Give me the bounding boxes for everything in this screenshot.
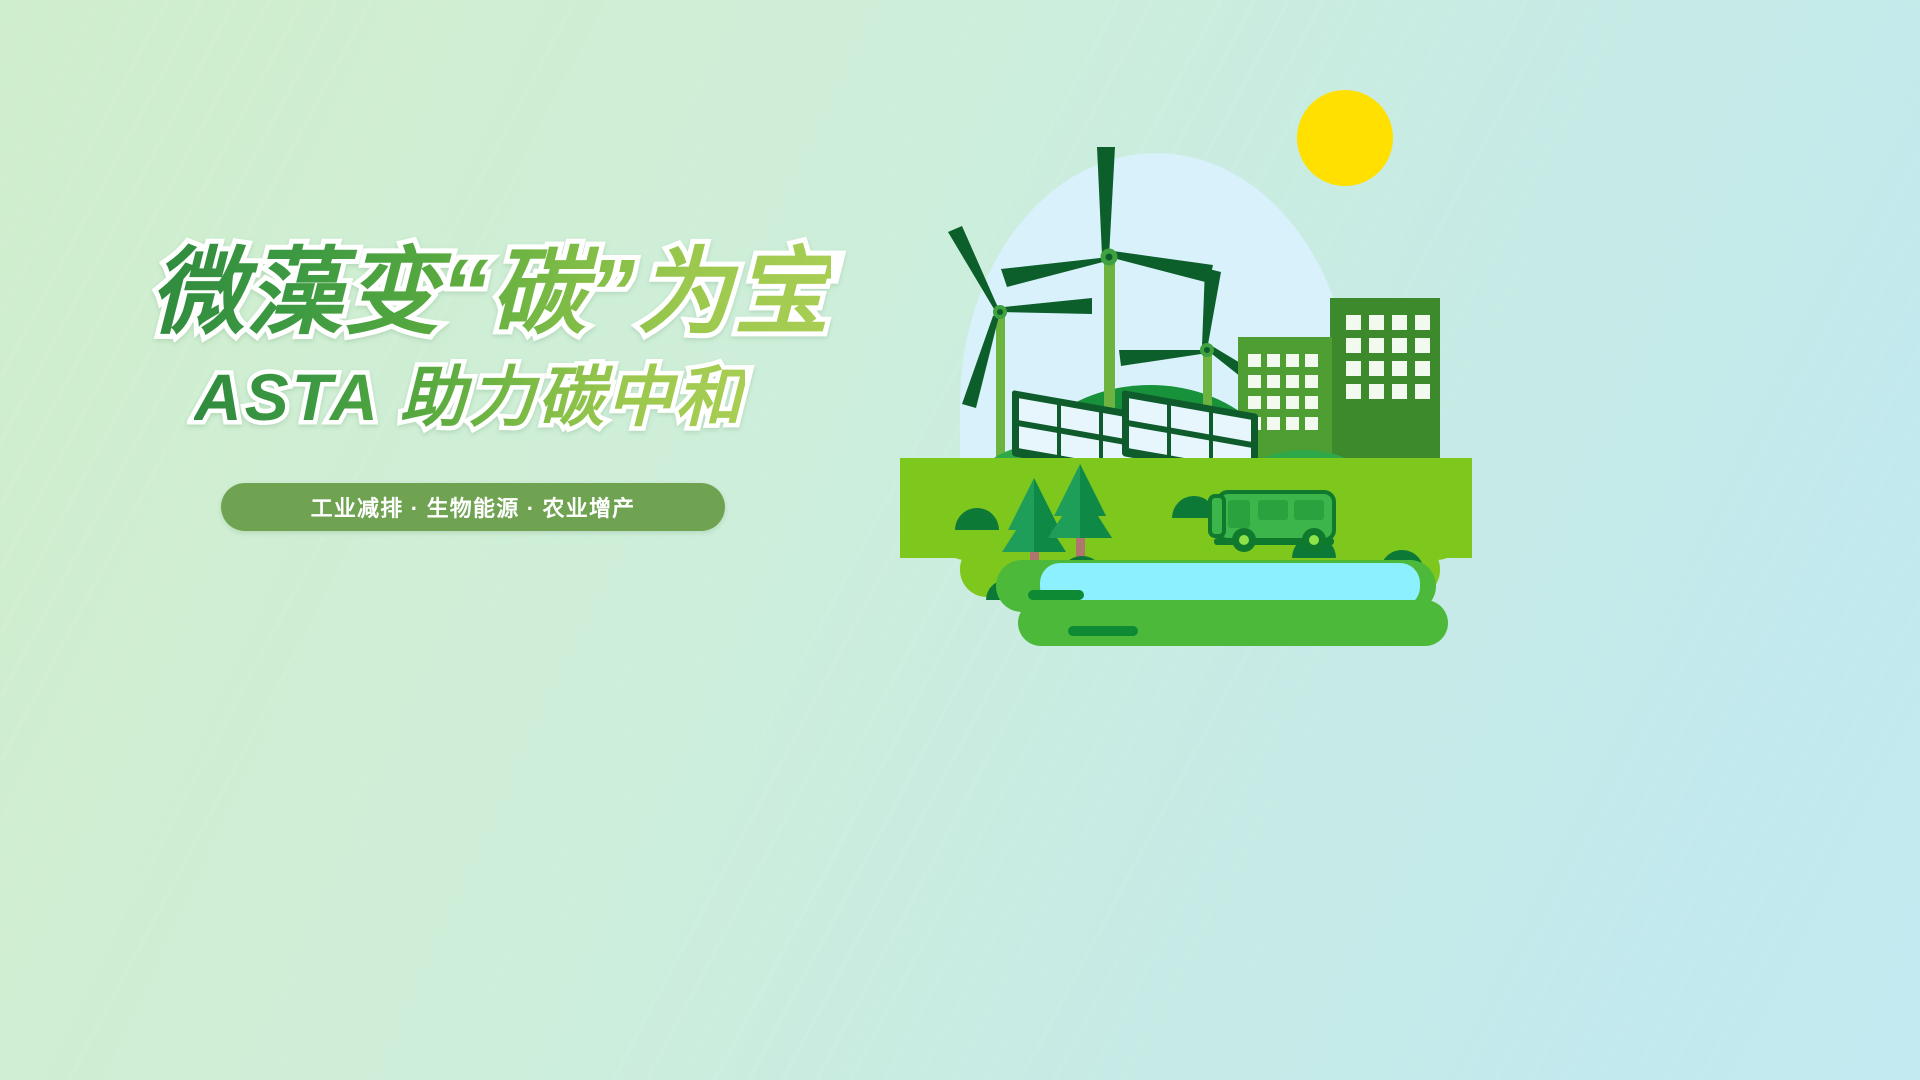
page-title: 微藻变“碳”为宝 微藻变“碳”为宝 — [150, 246, 910, 350]
tagline-badge: 工业减排 · 生物能源 · 农业增产 — [221, 483, 725, 531]
sun-icon — [1297, 90, 1393, 186]
hero-copy: 微藻变“碳”为宝 微藻变“碳”为宝 ASTA 助力碳中和 ASTA 助力碳中和 — [150, 246, 910, 444]
eco-city-illustration — [900, 60, 1520, 660]
page-title-fill: 微藻变“碳”为宝 — [150, 240, 831, 346]
eco-banner: 微藻变“碳”为宝 微藻变“碳”为宝 ASTA 助力碳中和 ASTA 助力碳中和 … — [0, 0, 1920, 1080]
bus-icon — [1210, 492, 1334, 552]
tagline-text: 工业减排 · 生物能源 · 农业增产 — [311, 491, 636, 523]
river — [996, 560, 1448, 646]
page-subtitle-fill: ASTA 助力碳中和 — [194, 360, 745, 434]
page-subtitle: ASTA 助力碳中和 ASTA 助力碳中和 — [194, 364, 910, 444]
